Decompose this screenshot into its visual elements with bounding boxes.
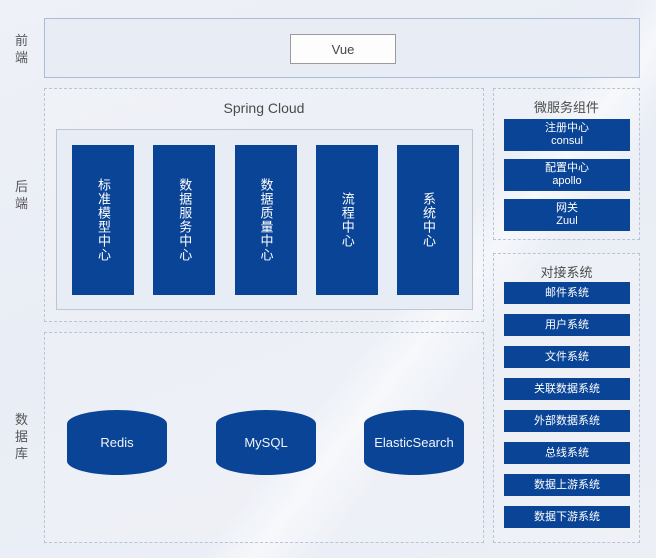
connected-systems-panel: 对接系统 邮件系统 用户系统 文件系统 关联数据系统 外部数据系统 总线系统 数…: [493, 253, 640, 543]
connected-system-chip[interactable]: 外部数据系统: [504, 410, 630, 432]
service-center-row: 标准模型中心 数据服务中心 数据质量中心 流程中心 系统中心: [72, 145, 459, 295]
connected-system-label: 邮件系统: [545, 287, 589, 300]
tier-label-frontend: 前端: [9, 32, 35, 66]
microservice-component-cn: 网关: [556, 202, 578, 215]
database-cylinder-label: Redis: [100, 435, 133, 450]
service-center-box[interactable]: 系统中心: [397, 145, 459, 295]
service-center-label: 流程中心: [338, 192, 356, 248]
microservice-component-chip[interactable]: 注册中心 consul: [504, 119, 630, 151]
microservice-components-title: 微服务组件: [494, 97, 639, 116]
connected-system-label: 总线系统: [545, 447, 589, 460]
connected-system-label: 用户系统: [545, 319, 589, 332]
service-center-label: 标准模型中心: [94, 178, 112, 262]
connected-system-label: 数据下游系统: [534, 511, 600, 524]
database-cylinder-label: MySQL: [244, 435, 287, 450]
frontend-panel: Vue: [44, 18, 640, 78]
microservice-component-en: apollo: [552, 175, 581, 188]
connected-system-chip[interactable]: 用户系统: [504, 314, 630, 336]
microservice-component-cn: 注册中心: [545, 122, 589, 135]
spring-cloud-title: Spring Cloud: [45, 100, 483, 116]
connected-system-chip[interactable]: 关联数据系统: [504, 378, 630, 400]
connected-system-label: 数据上游系统: [534, 479, 600, 492]
microservice-component-en: Zuul: [556, 215, 577, 228]
tier-label-backend: 后端: [9, 178, 35, 212]
connected-system-label: 文件系统: [545, 351, 589, 364]
connected-system-chip[interactable]: 数据下游系统: [504, 506, 630, 528]
connected-system-chip[interactable]: 总线系统: [504, 442, 630, 464]
service-center-label: 数据服务中心: [175, 178, 193, 262]
connected-system-label: 外部数据系统: [534, 415, 600, 428]
database-cylinder[interactable]: MySQL: [216, 410, 316, 475]
service-center-box[interactable]: 标准模型中心: [72, 145, 134, 295]
microservice-component-chip[interactable]: 配置中心 apollo: [504, 159, 630, 191]
connected-system-chip[interactable]: 数据上游系统: [504, 474, 630, 496]
service-center-box[interactable]: 流程中心: [316, 145, 378, 295]
connected-systems-title: 对接系统: [494, 262, 639, 281]
microservice-components-panel: 微服务组件 注册中心 consul 配置中心 apollo 网关 Zuul: [493, 88, 640, 240]
spring-cloud-inner-panel: 标准模型中心 数据服务中心 数据质量中心 流程中心 系统中心: [56, 129, 473, 310]
frontend-node-vue[interactable]: Vue: [290, 34, 396, 64]
service-center-label: 系统中心: [419, 192, 437, 248]
connected-system-label: 关联数据系统: [534, 383, 600, 396]
spring-cloud-panel: Spring Cloud 标准模型中心 数据服务中心 数据质量中心 流程中心 系…: [44, 88, 484, 322]
database-cylinder[interactable]: ElasticSearch: [364, 410, 464, 475]
connected-system-chip[interactable]: 文件系统: [504, 346, 630, 368]
database-store-row: Redis MySQL ElasticSearch: [45, 333, 483, 542]
service-center-label: 数据质量中心: [257, 178, 275, 262]
microservice-component-en: consul: [551, 135, 583, 148]
connected-system-chip[interactable]: 邮件系统: [504, 282, 630, 304]
database-panel: Redis MySQL ElasticSearch: [44, 332, 484, 543]
database-cylinder-label: ElasticSearch: [374, 435, 453, 450]
service-center-box[interactable]: 数据质量中心: [235, 145, 297, 295]
microservice-component-cn: 配置中心: [545, 162, 589, 175]
microservice-component-chip[interactable]: 网关 Zuul: [504, 199, 630, 231]
database-cylinder[interactable]: Redis: [67, 410, 167, 475]
service-center-box[interactable]: 数据服务中心: [153, 145, 215, 295]
architecture-diagram: 前端 后端 数据库 Vue Spring Cloud 标准模型中心 数据服务中心…: [0, 0, 656, 558]
tier-label-database: 数据库: [9, 411, 35, 462]
frontend-node-vue-label: Vue: [332, 42, 355, 57]
